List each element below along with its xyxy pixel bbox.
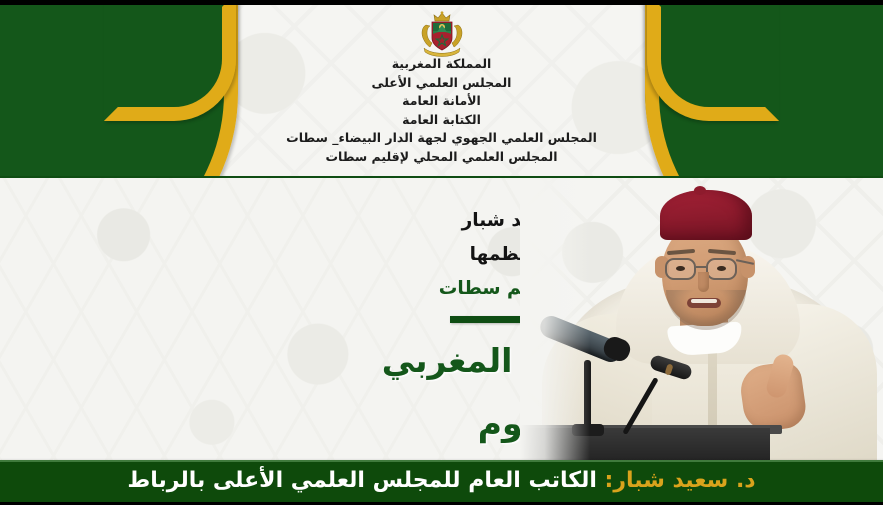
header-line-local-council: المجلس العلمي المحلي لإقليم سطات — [0, 148, 883, 167]
poster-canvas: المملكة المغربية المجلس العلمي الأعلى ال… — [0, 0, 883, 505]
speaker-photo — [520, 178, 883, 464]
header-line-supreme-council: المجلس العلمي الأعلى — [0, 74, 883, 93]
moroccan-coat-of-arms-icon — [412, 11, 472, 59]
speaker-teeth — [691, 299, 717, 303]
header-line-kingdom: المملكة المغربية — [0, 55, 883, 74]
header-line-regional-council: المجلس العلمي الجهوي لجهة الدار البيضاء_… — [0, 129, 883, 148]
speaker-ear-right — [741, 256, 755, 278]
banner-top-edge — [0, 460, 883, 462]
bottom-banner: د. سعيد شبار: الكاتب العام للمجلس العلمي… — [0, 462, 883, 502]
banner-caption: د. سعيد شبار: الكاتب العام للمجلس العلمي… — [127, 470, 755, 494]
photo-left-fade — [520, 178, 590, 464]
glasses-bridge — [696, 266, 706, 268]
speaker-eye-right — [717, 266, 726, 271]
red-fez-icon — [660, 190, 752, 240]
banner-speaker-name: د. سعيد شبار: — [605, 468, 756, 493]
top-frame-bar — [0, 0, 883, 5]
speaker-nose — [698, 272, 709, 292]
speaker-eye-left — [676, 266, 685, 271]
header-divider-line — [0, 176, 883, 178]
header-text-lines: المملكة المغربية المجلس العلمي الأعلى ال… — [0, 55, 883, 166]
banner-speaker-role: الكاتب العام للمجلس العلمي الأعلى بالربا… — [127, 468, 604, 493]
fez-top-button — [694, 186, 706, 195]
header-section: المملكة المغربية المجلس العلمي الأعلى ال… — [0, 5, 883, 176]
header-line-general-secretariat: الأمانة العامة — [0, 92, 883, 111]
header-line-general-writing: الكتابة العامة — [0, 111, 883, 130]
